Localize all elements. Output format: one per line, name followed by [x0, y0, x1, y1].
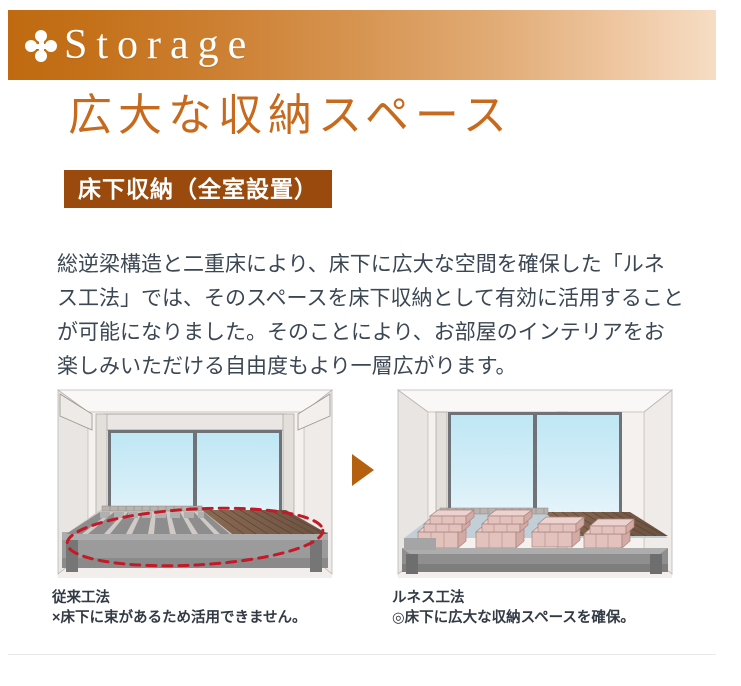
right-triangle-arrow-icon: [352, 454, 374, 486]
clover-icon: [24, 29, 58, 63]
figure-caption-lunes: ルネス工法 ◎床下に広大な収納スペースを確保。: [392, 588, 635, 628]
section-header-bar: 床下収納（全室設置）: [64, 170, 332, 208]
body-paragraph: 総逆梁構造と二重床により、床下に広大な空間を確保した「ルネス工法」では、そのスペ…: [57, 247, 685, 383]
caption-title: ルネス工法: [392, 590, 465, 606]
figure-caption-conventional: 従来工法 ×床下に束があるため活用できません。: [52, 588, 307, 628]
figure-conventional: 従来工法 ×床下に束があるため活用できません。: [52, 382, 338, 582]
banner-title: Storage: [64, 24, 255, 66]
caption-title: 従来工法: [52, 590, 110, 606]
conventional-room-illustration: [52, 382, 338, 582]
banner-content: Storage: [8, 10, 716, 80]
caption-detail: ×床下に束があるため活用できません。: [52, 608, 307, 628]
caption-detail: ◎床下に広大な収納スペースを確保。: [392, 608, 635, 628]
bottom-divider: [8, 654, 716, 655]
section-header-label: 床下収納（全室設置）: [78, 178, 318, 201]
comparison-figures: 従来工法 ×床下に束があるため活用できません。: [0, 382, 741, 642]
lunes-room-illustration: [392, 382, 678, 582]
figure-lunes: ルネス工法 ◎床下に広大な収納スペースを確保。: [392, 382, 678, 582]
page-title: 広大な収納スペース: [68, 92, 513, 140]
lunes-room-svg: [392, 382, 678, 582]
conventional-room-svg: [52, 382, 338, 582]
storage-banner: Storage: [8, 10, 716, 80]
